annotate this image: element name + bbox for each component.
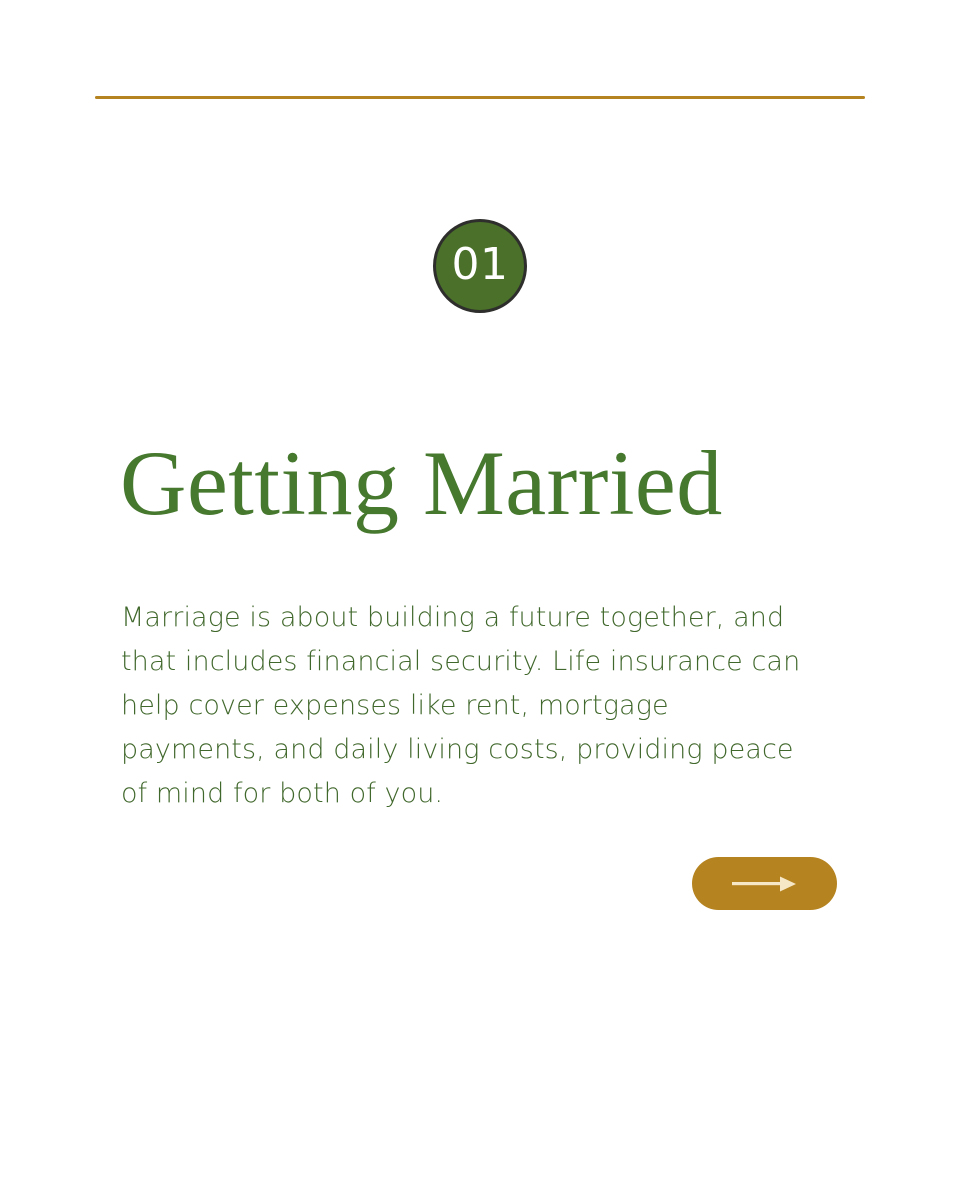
page-title: Getting Married xyxy=(120,437,880,531)
top-gold-rule xyxy=(95,96,865,99)
body-paragraph: Marriage is about building a future toge… xyxy=(121,596,821,816)
next-slide-button[interactable] xyxy=(692,857,837,910)
step-number-label: 01 xyxy=(452,243,509,289)
step-number-badge: 01 xyxy=(433,219,527,313)
slide-container: 01 Getting Married Marriage is about bui… xyxy=(0,0,960,1200)
arrow-right-icon xyxy=(732,874,798,894)
